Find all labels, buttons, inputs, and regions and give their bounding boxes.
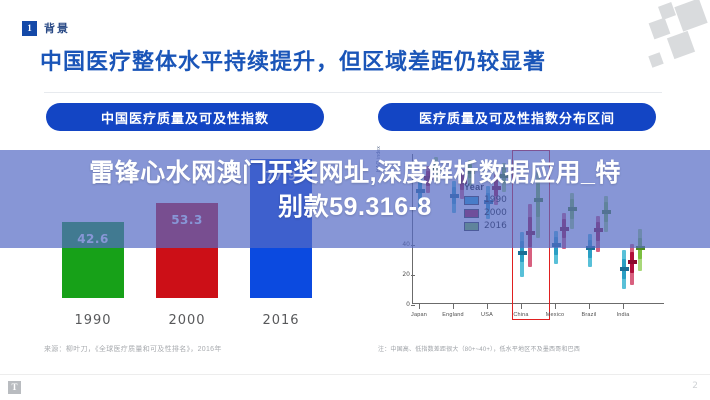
decor-square-2: [649, 18, 671, 40]
marker-india-2000: [628, 260, 637, 264]
overlay-text-line-1: 雷锋心水网澳门开奖网址,深度解析数据应用_特: [0, 157, 710, 191]
x-tick-japan-label: Japan: [411, 312, 427, 318]
decor-square-1: [674, 0, 707, 32]
overlay-text-line-2: 别款59.316-8: [0, 191, 710, 225]
y-tick-0: 0: [392, 301, 410, 308]
footer-logo-icon: T: [8, 381, 21, 394]
section-label: 背景: [44, 20, 70, 36]
left-chart-source-note: 来源：柳叶刀，《全球医疗质量和可及性排名》，2016年: [44, 344, 222, 354]
decor-square-5: [658, 2, 676, 20]
y-tick-20: 20: [392, 271, 410, 278]
x-tick-usa-label: USA: [481, 312, 493, 318]
x-tick-india-label: India: [617, 312, 630, 318]
y-tick-20-label: 20: [402, 271, 410, 278]
x-tick-china-label: China: [513, 312, 528, 318]
y-tick-0-label: 0: [406, 301, 410, 308]
right-panel-title: 医疗质量及可及性指数分布区间: [378, 103, 656, 131]
x-tick-england-label: England: [442, 312, 464, 318]
decor-square-3: [667, 31, 695, 59]
x-tick-mexico-label: Mexico: [546, 312, 565, 318]
x-tick-brazil-label: Brazil: [582, 312, 597, 318]
page-number: 2: [692, 381, 698, 391]
decor-square-4: [648, 52, 663, 67]
slide-canvas: 1 背景 中国医疗整体水平持续提升，但区域差距仍较显著 中国医疗质量及可及性指数…: [0, 0, 710, 400]
bar-category-2000: 2000: [156, 313, 218, 328]
bar-category-2016: 2016: [250, 313, 312, 328]
bar-category-1990: 1990: [62, 313, 124, 328]
decorative-squares: [638, 0, 710, 72]
x-tick-india: India: [600, 312, 646, 318]
page-title: 中国医疗整体水平持续提升，但区域差距仍较显著: [40, 44, 546, 76]
section-badge: 1 背景: [22, 20, 70, 36]
right-chart-footnote: 注：中国高、低指数差距很大（80+~40+），低水平地区不及墨西哥和巴西: [378, 344, 580, 353]
header-divider: [44, 92, 662, 93]
footer-divider: [0, 374, 710, 375]
marker-india-1990: [620, 267, 629, 271]
section-number: 1: [22, 21, 37, 36]
left-panel-title: 中国医疗质量及可及性指数: [46, 103, 324, 131]
overlay-watermark-text: 雷锋心水网澳门开奖网址,深度解析数据应用_特 别款59.316-8: [0, 157, 710, 224]
